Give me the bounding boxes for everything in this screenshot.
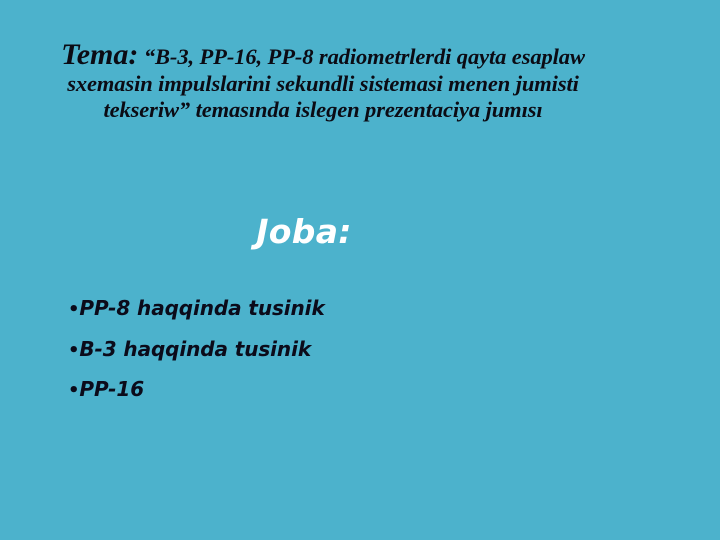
agenda-bullet-list: • PP-8 haqqinda tusinik • B-3 haqqinda t… [68,289,668,411]
title-tema-label: Tema: [61,38,138,71]
list-item-label: B-3 haqqinda tusinik [79,330,311,370]
list-item: • PP-8 haqqinda tusinik [68,289,668,330]
list-item-label: PP-8 haqqinda tusinik [79,289,324,329]
list-item: • B-3 haqqinda tusinik [68,330,668,371]
list-item: • PP-16 [68,370,668,411]
presentation-slide: Tema: “B-3, PP-16, PP-8 radiometrlerdi q… [0,0,720,540]
slide-title: Tema: “B-3, PP-16, PP-8 radiometrlerdi q… [34,42,612,124]
bullet-dot-icon: • [68,371,79,411]
title-line-4: temasında islegen prezentaciya jumısı [196,97,543,122]
bullet-dot-icon: • [68,290,79,330]
agenda-heading: Joba: [34,213,574,251]
bullet-dot-icon: • [68,331,79,371]
title-line-1: “B-3, PP-16, PP-8 radiometrlerdi [144,44,451,69]
list-item-label: PP-16 [79,370,144,410]
